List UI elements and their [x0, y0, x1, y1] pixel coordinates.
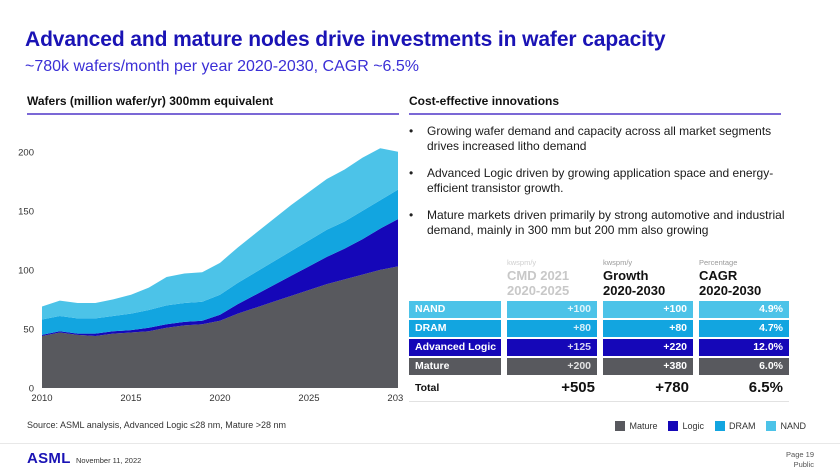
chart-series-areas: [42, 148, 398, 388]
source-note: Source: ASML analysis, Advanced Logic ≤2…: [27, 420, 286, 430]
slide-date: November 11, 2022: [76, 456, 141, 465]
row-cagr-value: 4.7%: [699, 320, 789, 337]
row-cagr-value: 12.0%: [699, 339, 789, 356]
table-header-cell: kwspm/yCMD 20212020-2025: [507, 258, 597, 301]
innovations-bullet-list: •Growing wafer demand and capacity acros…: [409, 124, 789, 250]
table-body: NAND+100+1004.9%DRAM+80+804.7%Advanced L…: [409, 301, 789, 375]
bullet-item: •Growing wafer demand and capacity acros…: [409, 124, 789, 154]
chart-x-axis-labels: 20102015202020252030: [31, 393, 403, 404]
legend-label: NAND: [780, 421, 806, 431]
chart-legend: MatureLogicDRAMNAND: [615, 421, 812, 431]
column-unit-label: Percentage: [699, 258, 789, 268]
legend-item: Mature: [615, 421, 657, 431]
legend-item: NAND: [766, 421, 806, 431]
row-segment-label: Mature: [409, 358, 501, 375]
column-title-line2: 2020-2025: [507, 283, 597, 298]
legend-label: Logic: [682, 421, 704, 431]
row-growth-value: +380: [603, 358, 693, 375]
classification-label: Public: [786, 460, 814, 470]
bullet-marker-icon: •: [409, 208, 427, 238]
chart-y-axis-labels: 050100150200: [18, 147, 34, 394]
legend-swatch-icon: [766, 421, 776, 431]
y-axis-tick-label: 150: [18, 206, 34, 217]
x-axis-tick-label: 2010: [31, 393, 52, 404]
bullet-item: •Mature markets driven primarily by stro…: [409, 208, 789, 238]
chart-svg: 050100150200 20102015202020252030: [8, 130, 403, 410]
y-axis-tick-label: 100: [18, 265, 34, 276]
total-cmd-value: +505: [513, 378, 601, 398]
table-total-row: Total +505 +780 6.5%: [409, 378, 789, 402]
row-growth-value: +220: [603, 339, 693, 356]
growth-summary-table: kwspm/yCMD 20212020-2025kwspm/yGrowth202…: [409, 258, 789, 402]
row-segment-label: NAND: [409, 301, 501, 318]
column-title-line2: 2020-2030: [699, 283, 789, 298]
bullet-text: Advanced Logic driven by growing applica…: [427, 166, 789, 196]
total-cagr-value: 6.5%: [701, 378, 789, 398]
row-cmd-value: +100: [507, 301, 597, 318]
page-number: Page 19: [786, 450, 814, 460]
page-info: Page 19 Public: [786, 450, 814, 470]
bullet-marker-icon: •: [409, 124, 427, 154]
bullet-marker-icon: •: [409, 166, 427, 196]
chart-section-divider: [27, 113, 399, 115]
y-axis-tick-label: 200: [18, 147, 34, 158]
column-title-line1: CAGR: [699, 268, 789, 283]
legend-label: DRAM: [729, 421, 756, 431]
legend-item: DRAM: [715, 421, 756, 431]
asml-logo: ASML: [27, 450, 71, 467]
table-row: Advanced Logic+125+22012.0%: [409, 339, 789, 356]
table-header-cell: PercentageCAGR2020-2030: [699, 258, 789, 301]
x-axis-tick-label: 2030: [387, 393, 403, 404]
column-title-line1: CMD 2021: [507, 268, 597, 283]
legend-item: Logic: [668, 421, 704, 431]
table-header-cell: kwspm/yGrowth2020-2030: [603, 258, 693, 301]
row-cagr-value: 4.9%: [699, 301, 789, 318]
table-row: NAND+100+1004.9%: [409, 301, 789, 318]
row-cmd-value: +80: [507, 320, 597, 337]
bullet-text: Growing wafer demand and capacity across…: [427, 124, 789, 154]
legend-label: Mature: [629, 421, 657, 431]
table-header-cell: [409, 258, 501, 301]
row-segment-label: Advanced Logic: [409, 339, 501, 356]
column-title-line1: Growth: [603, 268, 693, 283]
x-axis-tick-label: 2020: [209, 393, 230, 404]
table-row: Mature+200+3806.0%: [409, 358, 789, 375]
legend-swatch-icon: [668, 421, 678, 431]
row-segment-label: DRAM: [409, 320, 501, 337]
table-row: DRAM+80+804.7%: [409, 320, 789, 337]
chart-section-header: Wafers (million wafer/yr) 300mm equivale…: [27, 94, 273, 108]
x-axis-tick-label: 2025: [298, 393, 319, 404]
innovations-section-header: Cost-effective innovations: [409, 94, 559, 108]
bullet-text: Mature markets driven primarily by stron…: [427, 208, 789, 238]
page-title: Advanced and mature nodes drive investme…: [25, 28, 665, 52]
column-title-line2: 2020-2030: [603, 283, 693, 298]
wafer-capacity-area-chart: 050100150200 20102015202020252030: [8, 130, 403, 410]
row-cmd-value: +125: [507, 339, 597, 356]
page-subtitle: ~780k wafers/month per year 2020-2030, C…: [25, 58, 419, 76]
innovations-section-divider: [409, 113, 781, 115]
y-axis-tick-label: 50: [23, 324, 34, 335]
table-header-row: kwspm/yCMD 20212020-2025kwspm/yGrowth202…: [409, 258, 789, 301]
row-cmd-value: +200: [507, 358, 597, 375]
row-growth-value: +100: [603, 301, 693, 318]
legend-swatch-icon: [715, 421, 725, 431]
total-growth-value: +780: [607, 378, 695, 398]
column-unit-label: kwspm/y: [603, 258, 693, 268]
row-growth-value: +80: [603, 320, 693, 337]
footer-divider: [0, 443, 840, 444]
slide-root: Advanced and mature nodes drive investme…: [0, 0, 840, 473]
x-axis-tick-label: 2015: [120, 393, 141, 404]
bullet-item: •Advanced Logic driven by growing applic…: [409, 166, 789, 196]
column-unit-label: kwspm/y: [507, 258, 597, 268]
legend-swatch-icon: [615, 421, 625, 431]
total-label: Total: [409, 378, 507, 398]
row-cagr-value: 6.0%: [699, 358, 789, 375]
